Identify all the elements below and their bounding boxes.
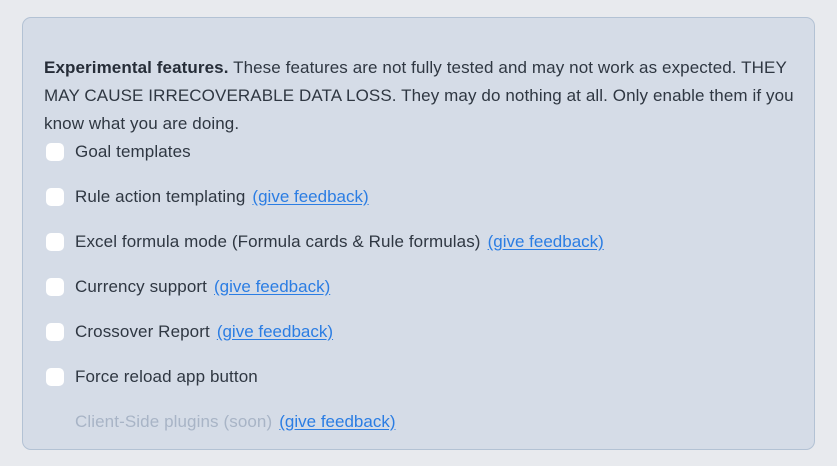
checkbox-unchecked-icon[interactable]: [46, 323, 64, 341]
option-label: Excel formula mode (Formula cards & Rule…: [75, 232, 481, 252]
option-label: Goal templates: [75, 142, 191, 162]
option-label: Currency support: [75, 277, 207, 297]
option-row[interactable]: Crossover Report(give feedback): [23, 309, 814, 354]
give-feedback-link[interactable]: (give feedback): [214, 277, 330, 297]
option-label: Client-Side plugins (soon): [75, 412, 272, 432]
option-label: Crossover Report: [75, 322, 210, 342]
option-row[interactable]: Rule action templating(give feedback): [23, 174, 814, 219]
checkbox-unchecked-icon[interactable]: [46, 188, 64, 206]
option-row[interactable]: Goal templates: [23, 129, 814, 174]
checkbox-unchecked-icon[interactable]: [46, 233, 64, 251]
option-label: Force reload app button: [75, 367, 258, 387]
option-row: Client-Side plugins (soon)(give feedback…: [23, 399, 814, 444]
give-feedback-link[interactable]: (give feedback): [488, 232, 604, 252]
give-feedback-link[interactable]: (give feedback): [217, 322, 333, 342]
experimental-features-card: Experimental features. These features ar…: [22, 17, 815, 450]
option-row[interactable]: Currency support(give feedback): [23, 264, 814, 309]
checkbox-unchecked-icon[interactable]: [46, 278, 64, 296]
experimental-features-heading: Experimental features.: [44, 58, 229, 77]
option-label: Rule action templating: [75, 187, 245, 207]
give-feedback-link[interactable]: (give feedback): [252, 187, 368, 207]
experimental-features-description: Experimental features. These features ar…: [44, 54, 794, 138]
checkbox-placeholder: [46, 413, 64, 431]
option-row[interactable]: Excel formula mode (Formula cards & Rule…: [23, 219, 814, 264]
checkbox-unchecked-icon[interactable]: [46, 143, 64, 161]
give-feedback-link[interactable]: (give feedback): [279, 412, 395, 432]
checkbox-unchecked-icon[interactable]: [46, 368, 64, 386]
experimental-features-option-list: Goal templatesRule action templating(giv…: [23, 129, 814, 444]
option-row[interactable]: Force reload app button: [23, 354, 814, 399]
